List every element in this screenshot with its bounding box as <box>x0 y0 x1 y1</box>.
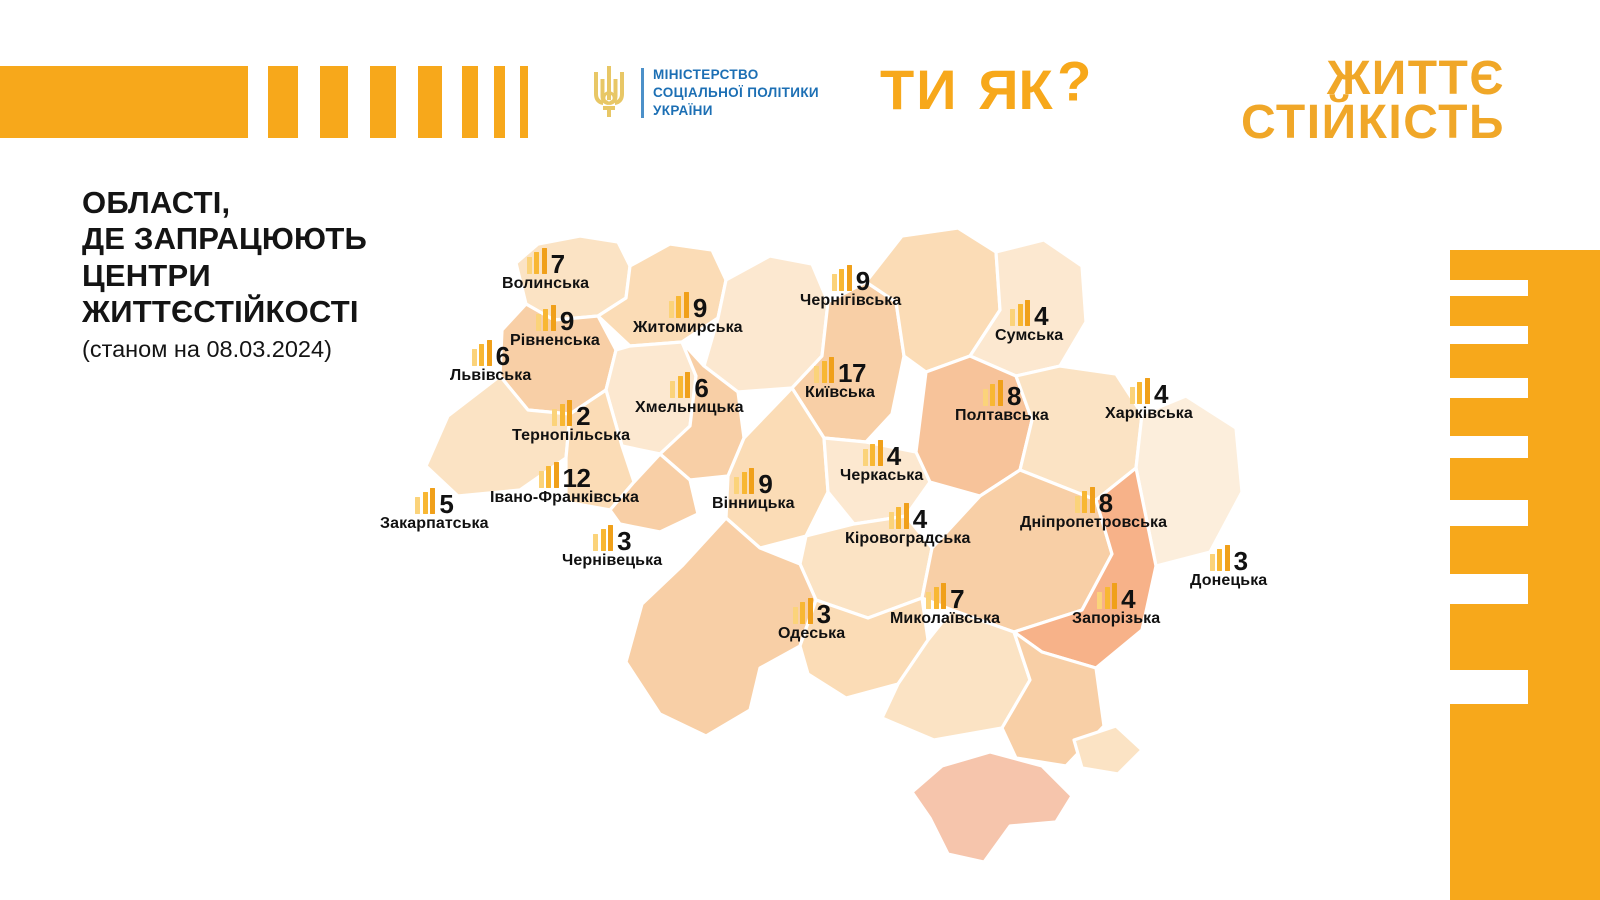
oblast-label-zaporizka[interactable]: 4 Запорізька <box>1072 583 1160 628</box>
ministry-name: МІНІСТЕРСТВО СОЦІАЛЬНОЇ ПОЛІТИКИ УКРАЇНИ <box>653 66 819 120</box>
decorative-bar-7 <box>520 66 528 138</box>
region-krym <box>912 752 1072 862</box>
oblast-value: 4 <box>1154 381 1168 407</box>
bars-icon <box>593 525 613 551</box>
oblast-value: 7 <box>950 586 964 612</box>
oblast-label-volynska[interactable]: 7 Волинська <box>502 248 589 293</box>
decorative-bars-right <box>1430 250 1600 900</box>
oblast-name: Донецька <box>1190 572 1267 590</box>
oblast-name: Дніпропетровська <box>1020 514 1167 532</box>
resilience-logo: ЖИТТЄ СТІЙКІСТЬ <box>1241 57 1505 145</box>
bars-icon <box>734 468 754 494</box>
decorative-bar-6 <box>494 66 505 138</box>
bars-icon <box>1010 300 1030 326</box>
bars-icon <box>670 372 690 398</box>
oblast-label-sumska[interactable]: 4 Сумська <box>995 300 1063 345</box>
oblast-label-zakarpatska[interactable]: 5 Закарпатська <box>380 488 489 533</box>
oblast-label-odeska[interactable]: 3 Одеська <box>778 598 845 643</box>
oblast-label-lvivska[interactable]: 6 Львівська <box>450 340 531 385</box>
oblast-name: Сумська <box>995 327 1063 345</box>
oblast-value: 8 <box>1007 383 1021 409</box>
oblast-value: 5 <box>439 491 453 517</box>
bars-icon <box>793 598 813 624</box>
oblast-label-poltavska[interactable]: 8 Полтавська <box>955 380 1049 425</box>
oblast-value: 9 <box>560 308 574 334</box>
oblast-name: Житомирська <box>633 319 743 337</box>
ukraine-trident-icon <box>586 62 632 124</box>
decorative-bar-1 <box>268 66 298 138</box>
oblast-label-ternopilska[interactable]: 2 Тернопільська <box>512 400 630 445</box>
oblast-value: 17 <box>838 360 866 386</box>
resilience-logo-line-2: СТІЙКІСТЬ <box>1241 101 1505 145</box>
bars-icon <box>536 305 556 331</box>
bars-icon <box>863 440 883 466</box>
resilience-logo-line-1: ЖИТТЄ <box>1241 57 1505 101</box>
oblast-label-kharkivska[interactable]: 4 Харківська <box>1105 378 1193 423</box>
campaign-logo-ty-yak: ТИ RК¿ <box>880 62 1091 118</box>
oblast-value: 7 <box>551 251 565 277</box>
oblast-name: Одеська <box>778 625 845 643</box>
ministry-logo: МІНІСТЕРСТВО СОЦІАЛЬНОЇ ПОЛІТИКИ УКРАЇНИ <box>586 62 819 124</box>
oblast-value: 3 <box>617 528 631 554</box>
bars-icon <box>1075 487 1095 513</box>
decorative-bar-2 <box>320 66 348 138</box>
oblast-value: 4 <box>913 506 927 532</box>
bars-icon <box>539 462 559 488</box>
bars-icon <box>983 380 1003 406</box>
logo-divider <box>641 68 644 118</box>
oblast-value: 9 <box>758 471 772 497</box>
oblast-name: Львівська <box>450 367 531 385</box>
bars-icon <box>669 292 689 318</box>
oblast-name: Закарпатська <box>380 515 489 533</box>
ministry-line-3: УКРАЇНИ <box>653 102 819 120</box>
oblast-label-khmelnytska[interactable]: 6 Хмельницька <box>635 372 744 417</box>
oblast-value: 4 <box>887 443 901 469</box>
oblast-value: 2 <box>576 403 590 429</box>
bars-icon <box>527 248 547 274</box>
oblast-label-vinnytska[interactable]: 9 Вінницька <box>712 468 795 513</box>
ministry-line-2: СОЦІАЛЬНОЇ ПОЛІТИКИ <box>653 84 819 102</box>
bars-icon <box>889 503 909 529</box>
decorative-comb-margin <box>1430 250 1450 900</box>
oblast-name: Полтавська <box>955 407 1049 425</box>
decorative-bar-4 <box>418 66 442 138</box>
oblast-value: 9 <box>693 295 707 321</box>
oblast-value: 4 <box>1034 303 1048 329</box>
bars-icon <box>1210 545 1230 571</box>
bars-icon <box>814 357 834 383</box>
bars-icon <box>832 265 852 291</box>
campaign-logo-text: ТИ RК¿ <box>880 58 1091 121</box>
bars-icon <box>1097 583 1117 609</box>
decorative-bar-3 <box>370 66 396 138</box>
oblast-name: Запорізька <box>1072 610 1160 628</box>
oblast-label-chernivetska[interactable]: 3 Чернівецька <box>562 525 662 570</box>
oblast-name: Чернігівська <box>800 292 901 310</box>
decorative-bar-0 <box>0 66 248 138</box>
bars-icon <box>415 488 435 514</box>
oblast-name: Вінницька <box>712 495 795 513</box>
oblast-label-chernihivska[interactable]: 9 Чернігівська <box>800 265 901 310</box>
oblast-value: 6 <box>694 375 708 401</box>
oblast-label-dnipropetrovska[interactable]: 8 Дніпропетровська <box>1020 487 1167 532</box>
oblast-name: Черкаська <box>840 467 923 485</box>
bars-icon <box>472 340 492 366</box>
ministry-line-1: МІНІСТЕРСТВО <box>653 66 819 84</box>
oblast-label-donetska[interactable]: 3 Донецька <box>1190 545 1267 590</box>
oblast-label-kyivska[interactable]: 17 Київська <box>805 357 875 402</box>
oblast-name: Чернівецька <box>562 552 662 570</box>
oblast-name: Хмельницька <box>635 399 744 417</box>
oblast-name: Волинська <box>502 275 589 293</box>
oblast-name: Миколаївська <box>890 610 1000 628</box>
bars-icon <box>926 583 946 609</box>
infographic-canvas: МІНІСТЕРСТВО СОЦІАЛЬНОЇ ПОЛІТИКИ УКРАЇНИ… <box>0 0 1600 900</box>
oblast-value: 3 <box>817 601 831 627</box>
oblast-name: Тернопільська <box>512 427 630 445</box>
oblast-value: 9 <box>856 268 870 294</box>
decorative-bar-5 <box>462 66 478 138</box>
oblast-label-mykolaivska[interactable]: 7 Миколаївська <box>890 583 1000 628</box>
oblast-value: 6 <box>496 343 510 369</box>
oblast-label-cherkaska[interactable]: 4 Черкаська <box>840 440 923 485</box>
oblast-value: 12 <box>563 465 591 491</box>
oblast-value: 3 <box>1234 548 1248 574</box>
oblast-label-zhytomyrska[interactable]: 9 Житомирська <box>633 292 743 337</box>
bars-icon <box>552 400 572 426</box>
oblast-label-kirovohradska[interactable]: 4 Кіровоградська <box>845 503 970 548</box>
oblast-name: Кіровоградська <box>845 530 970 548</box>
oblast-value: 8 <box>1099 490 1113 516</box>
oblast-name: Харківська <box>1105 405 1193 423</box>
oblast-label-ivano-frankivska[interactable]: 12 Івано-Франківська <box>490 462 639 507</box>
bars-icon <box>1130 378 1150 404</box>
oblast-value: 4 <box>1121 586 1135 612</box>
